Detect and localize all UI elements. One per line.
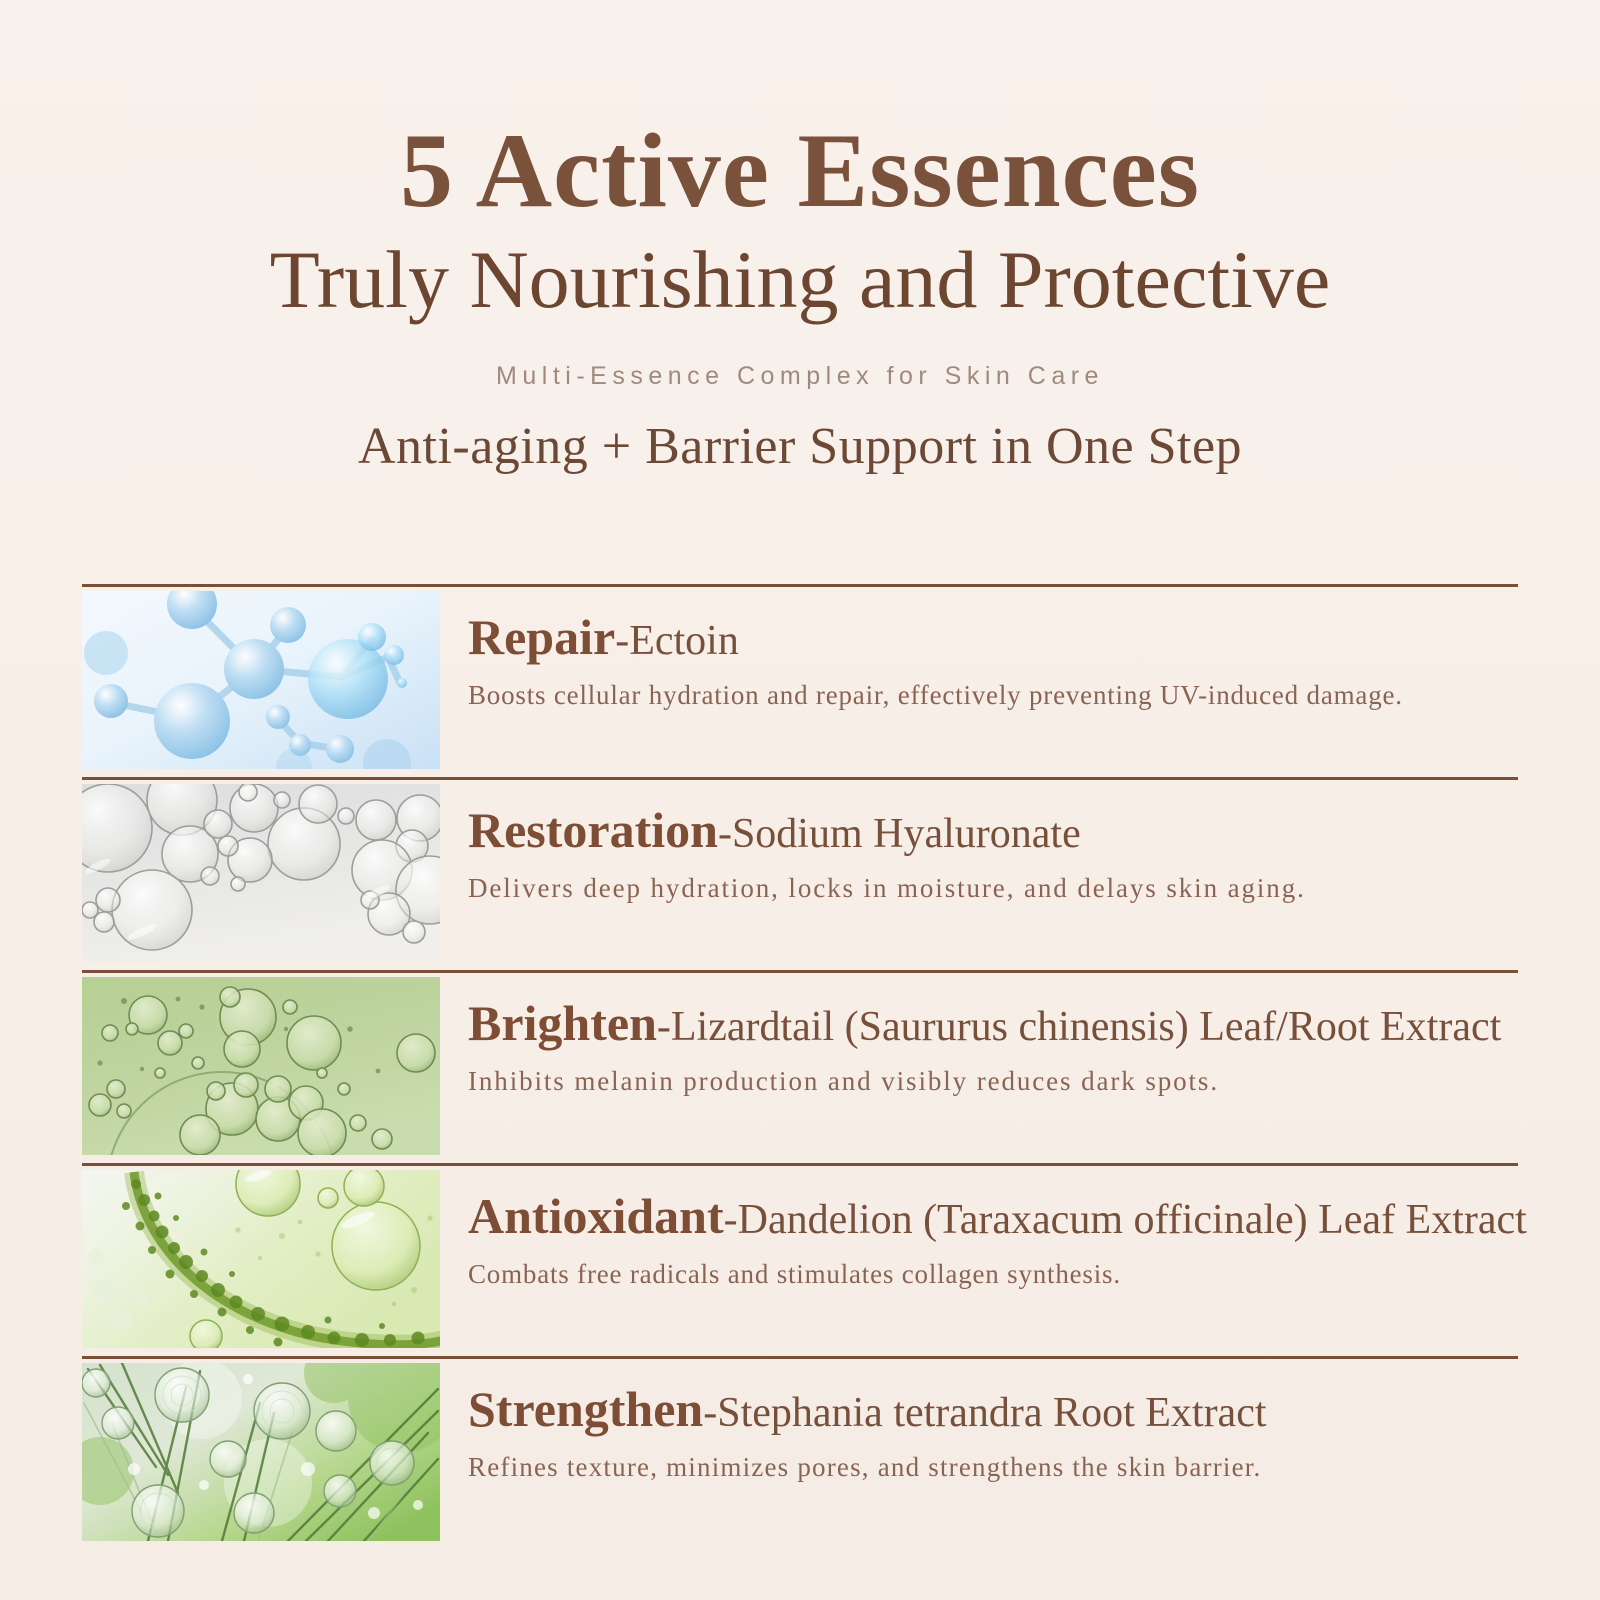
list-item: Restoration-Sodium Hyaluronate Delivers … (82, 777, 1518, 970)
row-text: Restoration-Sodium Hyaluronate Delivers … (440, 780, 1518, 904)
row-keyword: Antioxidant (468, 1188, 724, 1244)
row-text: Brighten-Lizardtail (Saururus chinensis)… (440, 973, 1518, 1097)
dandelion-seed-stems-image (82, 1363, 440, 1541)
row-description: Inhibits melanin production and visibly … (468, 1066, 1518, 1097)
row-ingredient: -Ectoin (615, 618, 739, 664)
row-keyword: Repair (468, 609, 615, 665)
poster-header: 5 Active Essences Truly Nourishing and P… (0, 0, 1600, 476)
row-heading: Restoration-Sodium Hyaluronate (468, 804, 1518, 857)
row-ingredient: -Lizardtail (Saururus chinensis) Leaf/Ro… (657, 1004, 1501, 1050)
row-ingredient: -Sodium Hyaluronate (718, 811, 1081, 857)
list-item: Antioxidant-Dandelion (Taraxacum officin… (82, 1163, 1518, 1356)
clear-bubbles-image (82, 784, 440, 962)
green-oil-bubbles-image (82, 977, 440, 1155)
list-item: Repair-Ectoin Boosts cellular hydration … (82, 584, 1518, 777)
row-keyword: Brighten (468, 995, 657, 1051)
row-description: Boosts cellular hydration and repair, ef… (468, 680, 1518, 711)
row-description: Refines texture, minimizes pores, and st… (468, 1452, 1518, 1483)
blue-molecule-structure-image (82, 591, 440, 769)
green-algae-swirl-image (82, 1170, 440, 1348)
row-text: Antioxidant-Dandelion (Taraxacum officin… (440, 1166, 1527, 1290)
row-keyword: Strengthen (468, 1381, 703, 1437)
row-description: Delivers deep hydration, locks in moistu… (468, 873, 1518, 904)
row-description: Combats free radicals and stimulates col… (468, 1259, 1527, 1290)
infographic-poster: 5 Active Essences Truly Nourishing and P… (0, 0, 1600, 1600)
row-text: Strengthen-Stephania tetrandra Root Extr… (440, 1359, 1518, 1483)
row-ingredient: -Stephania tetrandra Root Extract (703, 1390, 1266, 1436)
list-item: Strengthen-Stephania tetrandra Root Extr… (82, 1356, 1518, 1549)
row-text: Repair-Ectoin Boosts cellular hydration … (440, 587, 1518, 711)
row-heading: Repair-Ectoin (468, 611, 1518, 664)
row-ingredient: -Dandelion (Taraxacum officinale) Leaf E… (724, 1197, 1527, 1243)
row-heading: Antioxidant-Dandelion (Taraxacum officin… (468, 1190, 1527, 1243)
essence-list: Repair-Ectoin Boosts cellular hydration … (82, 584, 1518, 1549)
tagline-text: Anti-aging + Barrier Support in One Step (0, 417, 1600, 476)
eyebrow-text: Multi-Essence Complex for Skin Care (0, 362, 1600, 391)
row-heading: Strengthen-Stephania tetrandra Root Extr… (468, 1383, 1518, 1436)
list-item: Brighten-Lizardtail (Saururus chinensis)… (82, 970, 1518, 1163)
row-heading: Brighten-Lizardtail (Saururus chinensis)… (468, 997, 1518, 1050)
row-keyword: Restoration (468, 802, 718, 858)
page-subtitle: Truly Nourishing and Protective (0, 234, 1600, 326)
page-title: 5 Active Essences (0, 118, 1600, 224)
